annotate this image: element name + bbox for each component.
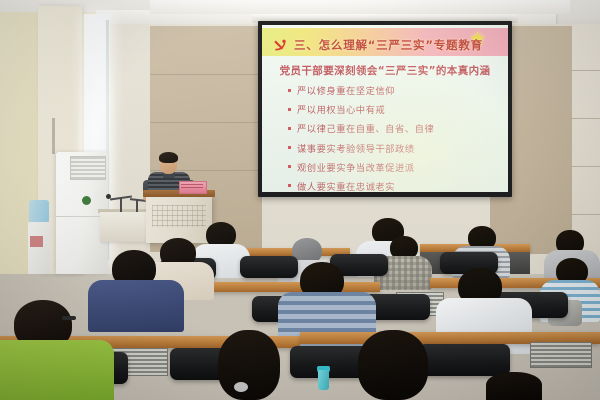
desk-vent-panel [530, 342, 592, 368]
bullet-dot-icon [288, 184, 291, 187]
slide-banner: ★ 三、怎么理解“三严三实”专题教育 [262, 28, 508, 56]
attendee-navy-torso [88, 280, 184, 332]
lecture-room-photo: ★ 三、怎么理解“三严三实”专题教育 党员干部要深刻领会“三严三实”的本真内涵 … [0, 0, 600, 400]
gooseneck-mic-stand [120, 198, 122, 212]
wall-seam [572, 214, 600, 215]
attendee-longhair-right-hair [358, 330, 428, 400]
attendee-green-polo-torso [0, 340, 114, 400]
bullet-dot-icon [288, 89, 291, 92]
slide-subtitle: 党员干部要深刻领会“三严三实”的本真内涵 [262, 63, 508, 78]
list-item: 做人要实重在忠诚老实 [288, 179, 498, 192]
attendee-front-right-head [486, 372, 542, 400]
hammer-sickle-emblem [272, 36, 290, 54]
ac-pipe [52, 118, 55, 154]
projected-slide: ★ 三、怎么理解“三严三实”专题教育 党员干部要深刻领会“三严三实”的本真内涵 … [262, 25, 508, 192]
list-item: 谋事要实考验领导干部政绩 [288, 141, 498, 155]
chair [418, 344, 510, 376]
chair [240, 256, 298, 278]
hair-tie-icon [234, 382, 248, 392]
gooseneck-mic-head [106, 194, 111, 199]
podium-sign-text [181, 184, 203, 189]
bullet-dot-icon [288, 127, 291, 130]
eyeglasses-arm-icon [62, 316, 76, 320]
wall-seam [572, 70, 600, 71]
list-item: 观创业要实争当改革促进派 [288, 160, 498, 174]
bullet-dot-icon [288, 165, 291, 168]
speaker-hair [159, 152, 178, 163]
bullet-text: 谋事要实考验领导干部政绩 [297, 141, 415, 155]
bullet-text: 严以用权当心中有戒 [297, 102, 385, 116]
slide-banner-title: 三、怎么理解“三严三实”专题教育 [294, 37, 484, 53]
bullet-text: 做人要实重在忠诚老实 [297, 179, 395, 192]
slide-bullet-list: 严以修身重在坚定信仰 严以用权当心中有戒 严以律己重在自重、自省、自律 谋事要实… [288, 83, 498, 192]
wall-seam [150, 74, 262, 75]
ac-brand-logo [82, 196, 91, 205]
water-dispenser [28, 222, 50, 274]
wall-tile-column-right [572, 24, 600, 256]
attendee-longhair-front-hair [218, 330, 280, 400]
wall-seam [572, 166, 600, 167]
ceiling-soffit-upper [150, 0, 570, 14]
bullet-dot-icon [288, 108, 291, 111]
water-bottle [318, 370, 329, 390]
bullet-text: 严以修身重在坚定信仰 [297, 83, 395, 97]
gooseneck-mic-stand-2 [136, 200, 138, 212]
water-dispenser-label [30, 236, 43, 247]
wall-seam [572, 118, 600, 119]
bullet-text: 观创业要实争当改革促进派 [297, 160, 415, 174]
ac-vent-grill [70, 156, 106, 180]
list-item: 严以用权当心中有戒 [288, 102, 498, 116]
bullet-text: 严以律己重在自重、自省、自律 [297, 121, 434, 135]
list-item: 严以律己重在自重、自省、自律 [288, 121, 498, 135]
podium-perforation [152, 205, 206, 227]
front-desk [100, 212, 152, 242]
list-item: 严以修身重在坚定信仰 [288, 83, 498, 97]
bullet-dot-icon [288, 146, 291, 149]
wall-seam [150, 122, 262, 123]
